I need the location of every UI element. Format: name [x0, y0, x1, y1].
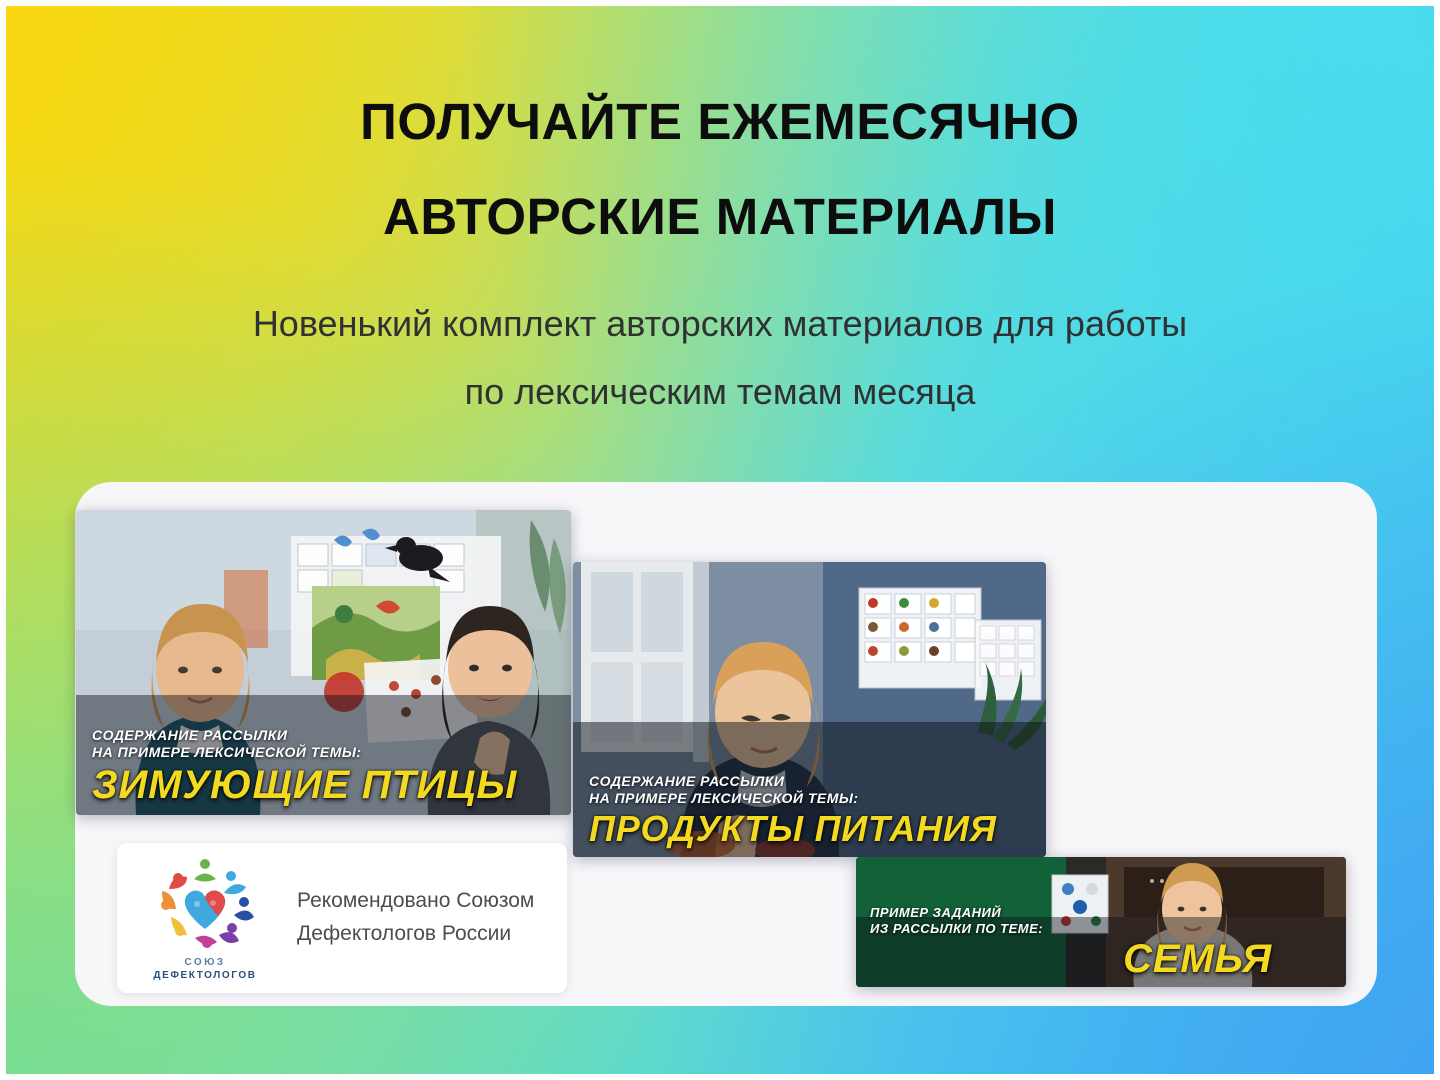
video-thumbnail-birds[interactable]: СОДЕРЖАНИЕ РАССЫЛКИ НА ПРИМЕРЕ ЛЕКСИЧЕСК… [76, 510, 571, 815]
video-thumbnail-family[interactable]: ПРИМЕР ЗАДАНИЙ ИЗ РАССЫЛКИ ПО ТЕМЕ: СЕМЬ… [856, 857, 1346, 987]
caption-small-line2-birds: НА ПРИМЕРЕ ЛЕКСИЧЕСКОЙ ТЕМЫ: [92, 744, 557, 761]
caption-small-line2-food: НА ПРИМЕРЕ ЛЕКСИЧЕСКОЙ ТЕМЫ: [589, 790, 1032, 807]
recommendation-text: Рекомендовано Союзом Дефектологов России [297, 885, 534, 950]
caption-topic-birds: ЗИМУЮЩИЕ ПТИЦЫ [92, 765, 557, 805]
caption-small-line1-family: ПРИМЕР ЗАДАНИЙ [870, 905, 1334, 921]
recommendation-text-line1: Рекомендовано Союзом [297, 885, 534, 918]
slide-root: ПОЛУЧАЙТЕ ЕЖЕМЕСЯЧНО АВТОРСКИЕ МАТЕРИАЛЫ… [0, 0, 1440, 1080]
caption-topic-family: СЕМЬЯ [870, 939, 1334, 979]
union-logo-word-bottom: ДЕФЕКТОЛОГОВ [139, 969, 271, 982]
video-thumbnail-food[interactable]: СОДЕРЖАНИЕ РАССЫЛКИ НА ПРИМЕРЕ ЛЕКСИЧЕСК… [573, 562, 1046, 857]
caption-small-line1-food: СОДЕРЖАНИЕ РАССЫЛКИ [589, 773, 1032, 790]
union-logo-wordmark: СОЮЗ ДЕФЕКТОЛОГОВ [139, 957, 271, 982]
union-logo-mark [155, 855, 255, 955]
title-line-2: АВТОРСКИЕ МАТЕРИАЛЫ [0, 191, 1440, 242]
caption-small-line2-family: ИЗ РАССЫЛКИ ПО ТЕМЕ: [870, 921, 1334, 937]
subtitle-line-1: Новенький комплект авторских материалов … [0, 306, 1440, 342]
thumbnail-caption-family: ПРИМЕР ЗАДАНИЙ ИЗ РАССЫЛКИ ПО ТЕМЕ: СЕМЬ… [856, 899, 1346, 987]
thumbnail-caption-food: СОДЕРЖАНИЕ РАССЫЛКИ НА ПРИМЕРЕ ЛЕКСИЧЕСК… [573, 765, 1046, 857]
caption-small-line1-birds: СОДЕРЖАНИЕ РАССЫЛКИ [92, 727, 557, 744]
union-logo: СОЮЗ ДЕФЕКТОЛОГОВ [139, 855, 271, 981]
page-subtitle: Новенький комплект авторских материалов … [0, 306, 1440, 410]
page-title: ПОЛУЧАЙТЕ ЕЖЕМЕСЯЧНО АВТОРСКИЕ МАТЕРИАЛЫ [0, 96, 1440, 242]
thumbnail-caption-birds: СОДЕРЖАНИЕ РАССЫЛКИ НА ПРИМЕРЕ ЛЕКСИЧЕСК… [76, 719, 571, 815]
union-logo-word-top: СОЮЗ [139, 957, 271, 969]
people-circle-heart-icon [155, 855, 255, 955]
recommendation-text-line2: Дефектологов России [297, 918, 534, 951]
subtitle-line-2: по лексическим темам месяца [0, 374, 1440, 410]
recommendation-badge: СОЮЗ ДЕФЕКТОЛОГОВ Рекомендовано Союзом Д… [117, 843, 567, 993]
caption-topic-food: ПРОДУКТЫ ПИТАНИЯ [589, 811, 1032, 847]
title-line-1: ПОЛУЧАЙТЕ ЕЖЕМЕСЯЧНО [0, 96, 1440, 147]
